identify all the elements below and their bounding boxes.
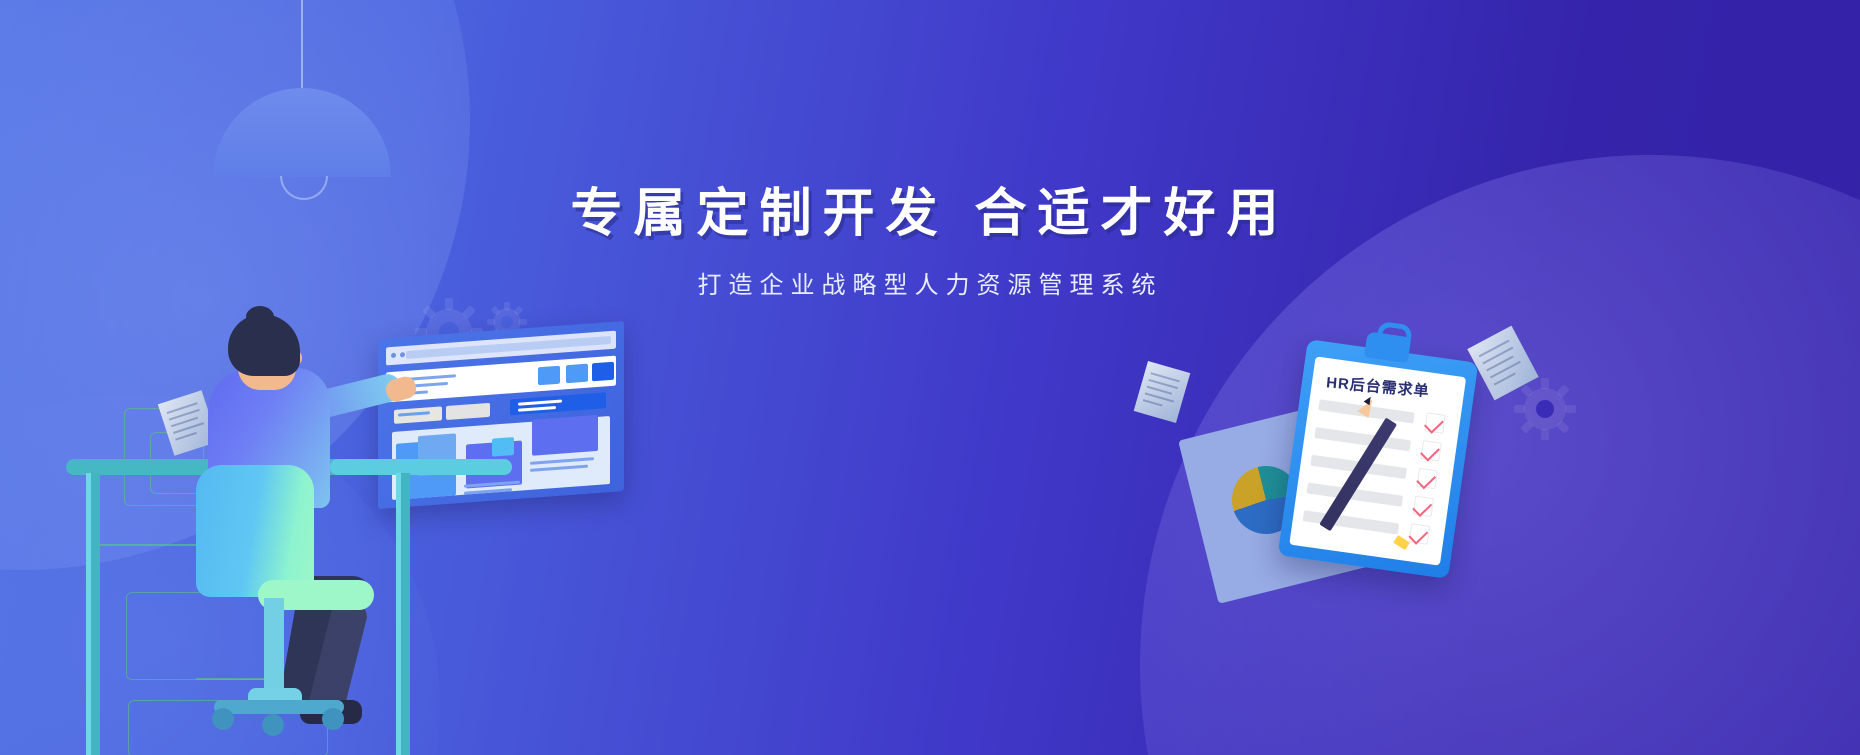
tile-chip (592, 362, 614, 382)
headline-part-2: 合适才好用 (975, 185, 1290, 243)
button-chip-grey (446, 403, 490, 420)
tile-block (532, 415, 598, 456)
clipboard-list-row (1314, 427, 1411, 451)
pencil-icon-band (1393, 535, 1410, 550)
page-title: 专属定制开发合适才好用 (0, 186, 1860, 243)
monitor-screen (378, 321, 624, 509)
chair-caster (322, 708, 344, 730)
paper-note-icon-mid (1134, 361, 1191, 423)
chair-post (264, 598, 284, 690)
lamp-cord (301, 0, 303, 90)
checkmark-icon (1424, 412, 1445, 433)
clipboard-paper: HR后台需求单 (1289, 356, 1466, 565)
clipboard-illustration: HR后台需求单 (1278, 339, 1479, 579)
clipboard-list-row (1303, 510, 1400, 534)
checkmark-icon (1420, 440, 1441, 461)
blueprint-line-1 (196, 678, 266, 680)
chair-caster (262, 714, 284, 736)
tile-block (492, 437, 514, 457)
desk-surface-highlight (330, 459, 512, 475)
browser-address-bar (406, 336, 611, 359)
desk-leg-right (396, 473, 410, 755)
hero-banner: HR后台需求单 专属定制开发合适才好用 打造企业战略型人力资源管理系统 (0, 0, 1860, 755)
gear-icon-right (1514, 378, 1576, 440)
hero-copy: 专属定制开发合适才好用 打造企业战略型人力资源管理系统 (0, 186, 1860, 300)
tile-chip (538, 366, 560, 386)
checkmark-icon (1417, 468, 1438, 489)
desk-leg-left (86, 473, 100, 755)
chair-backrest (196, 465, 314, 597)
page-subtitle: 打造企业战略型人力资源管理系统 (0, 265, 1860, 300)
checkmark-icon (1413, 496, 1434, 517)
chair-caster (212, 708, 234, 730)
headline-part-1: 专属定制开发 (570, 185, 948, 243)
person-hair-bun (246, 306, 274, 328)
clipboard-title: HR后台需求单 (1325, 371, 1450, 403)
tile-chip (566, 364, 588, 384)
browser-window-mockup (378, 321, 624, 509)
checkmark-icon (1409, 523, 1430, 544)
